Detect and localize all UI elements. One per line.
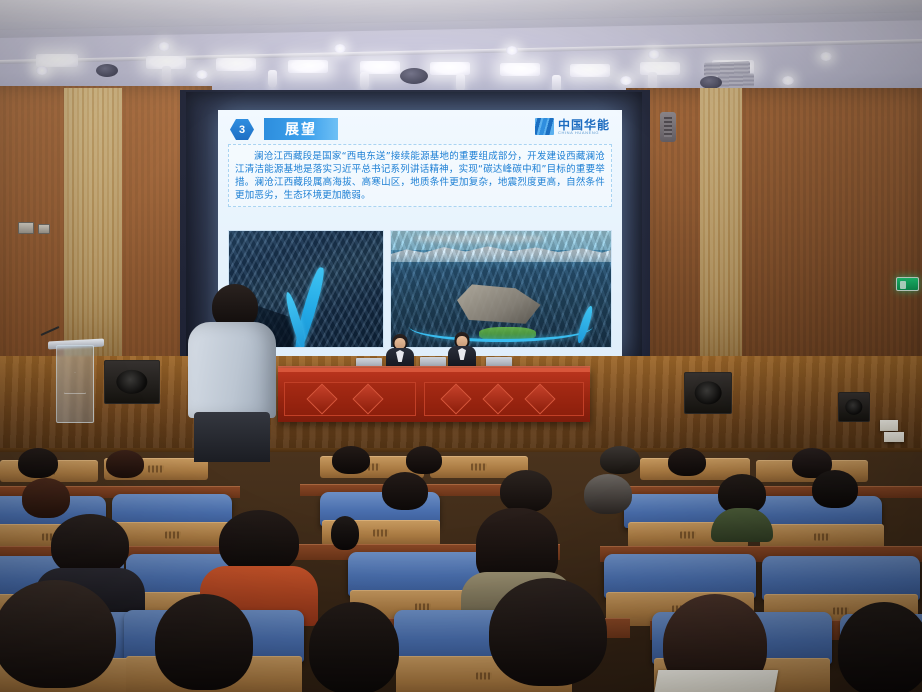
lighting-track bbox=[0, 39, 922, 64]
table-diamond-motif bbox=[306, 383, 337, 414]
audience-person bbox=[0, 580, 120, 692]
dome-camera-icon bbox=[400, 68, 428, 84]
ceiling-panel-light bbox=[288, 60, 328, 73]
slide-photo-row bbox=[228, 230, 612, 348]
exit-sign bbox=[896, 277, 919, 291]
ceiling-downlight bbox=[36, 66, 48, 75]
wall-control-panel[interactable] bbox=[18, 222, 34, 234]
audience-person bbox=[380, 472, 430, 518]
presenter-shirt bbox=[188, 322, 276, 418]
table-diamond-motif bbox=[440, 383, 471, 414]
ceiling-downlight bbox=[506, 46, 518, 55]
ceiling-downlight bbox=[648, 50, 660, 59]
huaneng-logo-icon bbox=[535, 118, 554, 135]
slide-header: 3 展望 中国华能 CHINA HUANENG bbox=[228, 116, 612, 142]
dome-camera-icon bbox=[96, 64, 118, 77]
table-diamond-motif bbox=[524, 383, 555, 414]
stage-curtain-right bbox=[700, 88, 742, 384]
section-number-badge: 3 bbox=[230, 119, 254, 140]
audience-person bbox=[330, 516, 360, 556]
ceiling-panel-light bbox=[640, 62, 680, 75]
ceiling-air-vent bbox=[718, 73, 754, 88]
presenter-trousers bbox=[194, 412, 270, 462]
slide-body-textbox: 澜沧江西藏段是国家“西电东送”接续能源基地的重要组成部分，开发建设西藏澜沧江清洁… bbox=[228, 144, 612, 207]
ceiling-downlight bbox=[820, 52, 832, 61]
ceiling-downlight bbox=[196, 70, 208, 79]
audience-person bbox=[216, 510, 302, 606]
ceiling-spotlight bbox=[360, 72, 369, 90]
ceiling-downlight bbox=[158, 42, 170, 51]
audience-person bbox=[104, 450, 146, 484]
audience-person bbox=[582, 474, 634, 522]
ceiling-downlight bbox=[620, 76, 632, 85]
ceiling-panel-light bbox=[500, 63, 540, 76]
wall-control-panel[interactable] bbox=[38, 224, 50, 234]
table-panel bbox=[424, 382, 584, 416]
slide-body-text: 澜沧江西藏段是国家“西电东送”接续能源基地的重要组成部分，开发建设西藏澜沧江清洁… bbox=[235, 150, 605, 202]
audience-person bbox=[810, 470, 860, 516]
audience-person bbox=[666, 448, 708, 482]
ceiling-spotlight bbox=[268, 70, 277, 88]
snow-mountain-valley-photo bbox=[390, 230, 612, 348]
standing-presenter bbox=[186, 284, 278, 460]
table-panel bbox=[284, 382, 416, 416]
brand-logo: 中国华能 CHINA HUANENG bbox=[535, 118, 610, 135]
ceiling-panel-light bbox=[570, 64, 610, 77]
audience-person bbox=[716, 474, 768, 522]
head-table bbox=[278, 368, 590, 422]
name-card bbox=[884, 432, 904, 442]
floor-speaker bbox=[684, 372, 732, 414]
floor-speaker bbox=[104, 360, 160, 404]
table-diamond-motif bbox=[352, 383, 383, 414]
ceiling-spotlight bbox=[162, 66, 171, 84]
notebook-paper bbox=[654, 670, 779, 692]
audience-area bbox=[0, 452, 922, 692]
audience-person bbox=[152, 594, 256, 692]
wall-mounted-speaker bbox=[660, 112, 676, 142]
ceiling-downlight bbox=[782, 76, 794, 85]
panelist-person bbox=[448, 332, 476, 366]
auditorium-photo: 3 展望 中国华能 CHINA HUANENG 澜沧江西藏段是国家“西电东送”接… bbox=[0, 0, 922, 692]
name-card bbox=[880, 420, 898, 431]
audience-person bbox=[306, 602, 402, 692]
audience-person bbox=[836, 602, 922, 692]
table-diamond-motif bbox=[482, 383, 513, 414]
ceiling bbox=[0, 0, 922, 96]
slide-section-title: 展望 bbox=[264, 118, 338, 140]
presentation-slide: 3 展望 中国华能 CHINA HUANENG 澜沧江西藏段是国家“西电东送”接… bbox=[218, 110, 622, 358]
brand-name-cn: 中国华能 bbox=[558, 119, 610, 131]
ceiling-panel-light bbox=[430, 62, 470, 75]
ceiling-downlight bbox=[334, 44, 346, 53]
audience-person bbox=[486, 578, 610, 692]
floor-speaker bbox=[838, 392, 870, 422]
ceiling-panel-light bbox=[216, 58, 256, 71]
panelist-person bbox=[386, 334, 414, 368]
audience-person bbox=[330, 446, 372, 480]
